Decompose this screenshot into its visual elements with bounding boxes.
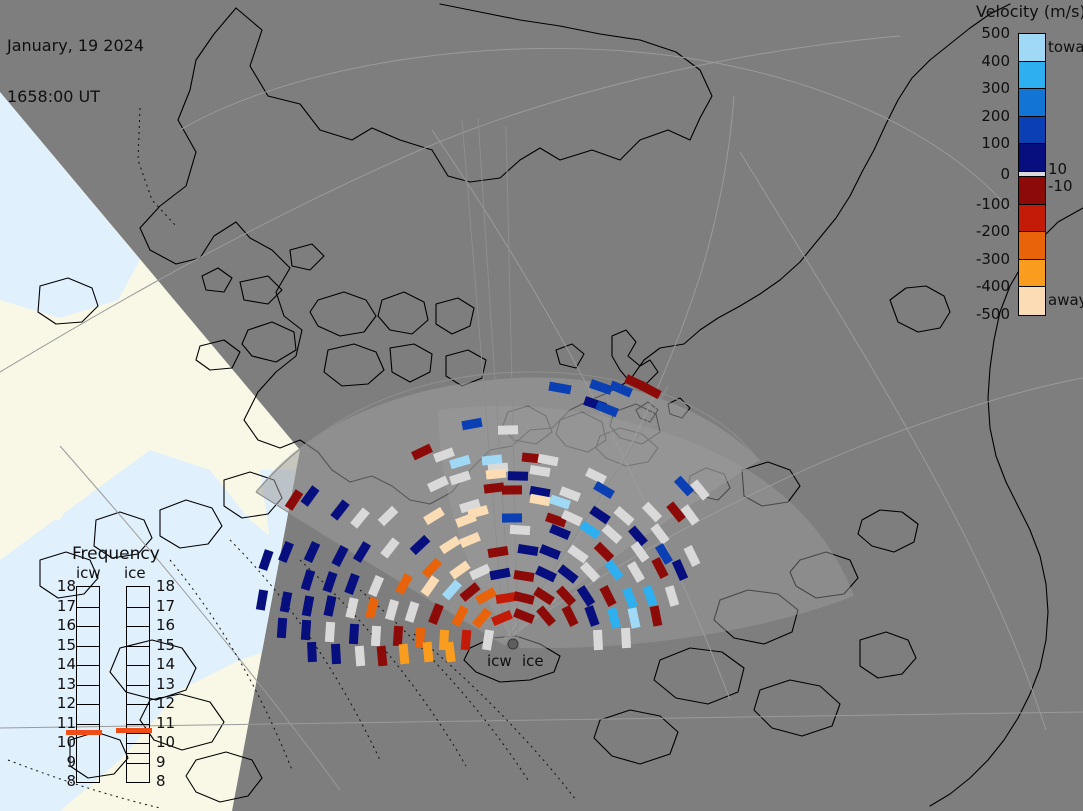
colorbar-ticks: 5004003002001000-100-200-300-400-500 [960,33,1014,316]
radar-site-marker [508,639,518,649]
velocity-cell [593,630,603,650]
frequency-tick-label-right: 18 [156,577,175,595]
colorbar-tick-label: -400 [976,277,1010,295]
colorbar-cell [1019,260,1045,288]
velocity-cell [502,485,522,494]
colorbar-tick-label: -300 [976,250,1010,268]
velocity-cell [349,624,359,645]
colorbar-tick-label: -100 [976,195,1010,213]
colorbar-cell [1019,117,1045,145]
colorbar-cell [1019,89,1045,117]
colorbar-zero-lower-label: -10 [1048,177,1073,195]
frequency-tick-label-right: 9 [156,753,166,771]
velocity-cell [508,471,528,481]
colorbar-cell [1019,62,1045,90]
colorbar-toward-label: toward [1048,38,1083,56]
frequency-tick-label-right: 12 [156,694,175,712]
frequency-tick-label-right: 16 [156,616,175,634]
velocity-cell [325,622,335,643]
velocity-cell [498,425,518,434]
velocity-cell [399,644,410,665]
timestamp: January, 19 2024 1658:00 UT [7,3,144,139]
frequency-labels-right: 18171615141312111098 [58,586,204,783]
colorbar-tick-label: 200 [981,107,1010,125]
frequency-tick-label-right: 10 [156,733,175,751]
colorbar-cell [1019,287,1045,315]
frequency-tick-label-right: 14 [156,655,175,673]
timestamp-time: 1658:00 UT [7,88,144,105]
velocity-cell [301,620,311,641]
velocity-cell [423,642,434,663]
velocity-cell [377,646,388,667]
velocity-cell [621,628,631,648]
colorbar-cell [1019,144,1045,172]
site-label-ice: ice [522,652,544,670]
colorbar-cell [1019,34,1045,62]
frequency-tick-label-right: 8 [156,772,166,790]
velocity-cell [502,513,522,522]
velocity-cell [461,630,472,651]
velocity-colorbar: Velocity (m/s) 5004003002001000-100-200-… [960,0,1083,340]
frequency-legend: Frequency icw ice 18171615141312111098 1… [58,544,198,784]
colorbar-swatches [1018,33,1046,316]
velocity-cell [331,644,341,664]
colorbar-tick-label: -500 [976,305,1010,323]
frequency-marker-ice [116,728,152,733]
colorbar-cell [1019,205,1045,233]
colorbar-tick-label: 100 [981,134,1010,152]
colorbar-tick-label: 0 [1000,165,1010,183]
colorbar-cell [1019,232,1045,260]
colorbar-away-label: away [1048,291,1083,309]
velocity-cell [355,646,366,667]
frequency-column-head-ice: ice [124,564,146,582]
colorbar-tick-label: 400 [981,52,1010,70]
timestamp-date: January, 19 2024 [7,37,144,54]
frequency-marker-icw [66,730,102,735]
site-label-icw: icw [487,652,512,670]
colorbar-zero-upper-label: 10 [1048,160,1067,178]
colorbar-tick-label: 500 [981,24,1010,42]
colorbar-cell [1019,177,1045,205]
frequency-tick-label-right: 17 [156,597,175,615]
frequency-tick-label-right: 11 [156,714,175,732]
colorbar-tick-label: -200 [976,222,1010,240]
velocity-cell [277,618,287,639]
frequency-tick-label-right: 15 [156,636,175,654]
colorbar-tick-label: 300 [981,79,1010,97]
colorbar-end-labels: toward10-10away [1048,33,1083,316]
colorbar-title: Velocity (m/s) [976,2,1083,21]
frequency-tick-label-right: 13 [156,675,175,693]
frequency-title: Frequency [72,544,160,564]
velocity-cell [510,525,531,535]
velocity-cell [393,626,403,647]
velocity-cell [371,626,381,646]
radar-velocity-map: January, 19 2024 1658:00 UT Velocity (m/… [0,0,1083,811]
frequency-column-head-icw: icw [76,564,101,582]
velocity-cell [307,642,317,662]
